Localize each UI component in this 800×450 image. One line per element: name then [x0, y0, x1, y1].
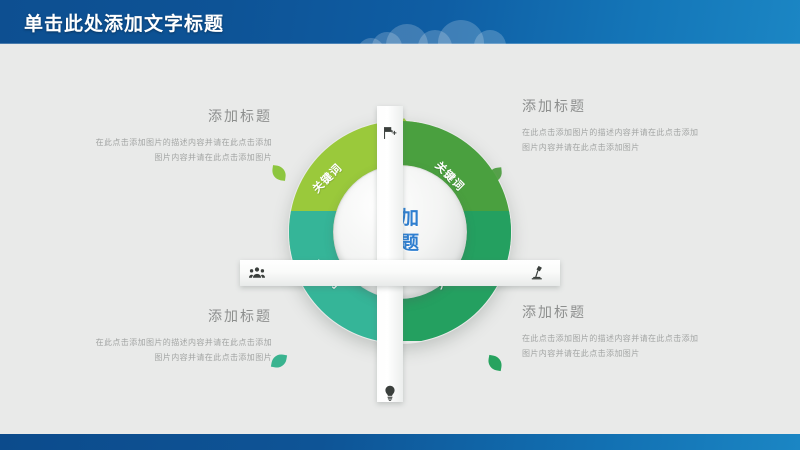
- text-block-top-right[interactable]: 添加标题 在此点击添加图片的描述内容并请在此点击添加图片内容并请在此点击添加图片: [522, 96, 702, 155]
- text-block-body: 在此点击添加图片的描述内容并请在此点击添加图片内容并请在此点击添加图片: [522, 331, 702, 361]
- slide-header: 单击此处添加文字标题: [0, 0, 800, 44]
- text-block-title: 添加标题: [92, 306, 272, 326]
- text-block-top-left[interactable]: 添加标题 在此点击添加图片的描述内容并请在此点击添加图片内容并请在此点击添加图片: [92, 106, 272, 165]
- text-block-title: 添加标题: [522, 96, 702, 116]
- text-block-body: 在此点击添加图片的描述内容并请在此点击添加图片内容并请在此点击添加图片: [92, 135, 272, 165]
- text-block-body: 在此点击添加图片的描述内容并请在此点击添加图片内容并请在此点击添加图片: [92, 335, 272, 365]
- text-block-title: 添加标题: [92, 106, 272, 126]
- page-title: 单击此处添加文字标题: [24, 9, 224, 36]
- text-block-bottom-left[interactable]: 添加标题 在此点击添加图片的描述内容并请在此点击添加图片内容并请在此点击添加图片: [92, 306, 272, 365]
- slide-body: 添加标题 在此点击添加图片的描述内容并请在此点击添加图片内容并请在此点击添加图片…: [0, 44, 800, 434]
- people-group-icon[interactable]: [244, 260, 270, 286]
- text-block-body: 在此点击添加图片的描述内容并请在此点击添加图片内容并请在此点击添加图片: [522, 125, 702, 155]
- slide-footer: [0, 434, 800, 450]
- text-block-title: 添加标题: [522, 302, 702, 322]
- horizontal-ribbon: [240, 260, 560, 286]
- flag-plus-icon[interactable]: [377, 120, 403, 146]
- text-block-bottom-right[interactable]: 添加标题 在此点击添加图片的描述内容并请在此点击添加图片内容并请在此点击添加图片: [522, 302, 702, 361]
- vertical-ribbon: [377, 106, 403, 402]
- lightbulb-icon[interactable]: [377, 380, 403, 406]
- desk-lamp-icon[interactable]: [524, 260, 550, 286]
